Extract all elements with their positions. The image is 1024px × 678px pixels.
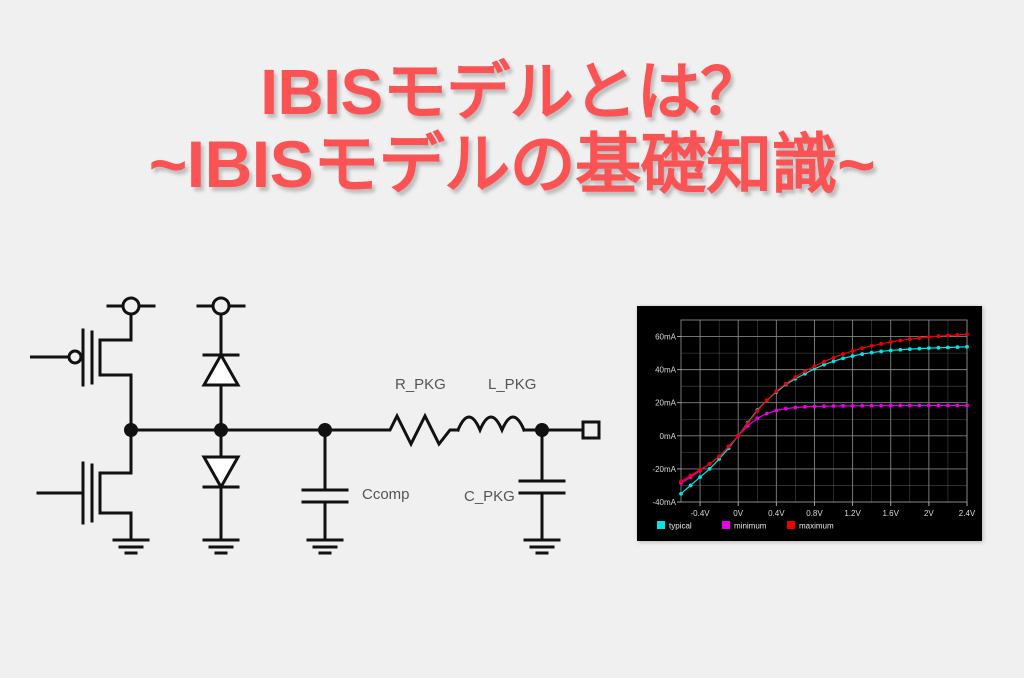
x-tick-label: 2.4V xyxy=(959,509,976,518)
nmos-ground-icon xyxy=(114,540,148,553)
page-title: IBISモデルとは？ ~IBISモデルの基礎知識~ xyxy=(0,60,1024,199)
clamp-ground-icon xyxy=(204,540,238,553)
l-pkg-inductor xyxy=(458,417,542,430)
legend-label-minimum: minimum xyxy=(734,522,767,531)
junction-dot xyxy=(124,423,138,437)
legend-label-typical: typical xyxy=(669,522,692,531)
power-terminal-diode-icon xyxy=(198,298,244,355)
ccomp-capacitor xyxy=(303,430,347,540)
y-tick-label: -20mA xyxy=(652,465,676,474)
y-tick-label: -40mA xyxy=(652,498,676,507)
junction-dot xyxy=(535,423,549,437)
x-tick-label: 0V xyxy=(733,509,743,518)
title-line-1: IBISモデルとは？ xyxy=(0,60,1024,125)
ibis-circuit-diagram: R_PKG L_PKG Ccomp C_PKG xyxy=(30,285,620,565)
ccomp-ground-icon xyxy=(308,540,342,553)
nmos-transistor xyxy=(38,430,131,540)
c-pkg-capacitor xyxy=(520,430,564,540)
x-tick-label: 0.4V xyxy=(768,509,785,518)
r-pkg-resistor xyxy=(382,416,458,444)
label-r-pkg: R_PKG xyxy=(395,376,446,393)
legend-label-maximum: maximum xyxy=(799,522,834,531)
x-tick-label: -0.4V xyxy=(691,509,711,518)
power-clamp-diode xyxy=(204,355,238,430)
pmos-transistor xyxy=(30,330,131,430)
x-tick-label: 1.2V xyxy=(844,509,861,518)
title-line-2: ~IBISモデルの基礎知識~ xyxy=(0,131,1024,198)
y-tick-label: 40mA xyxy=(655,366,677,375)
y-tick-label: 60mA xyxy=(655,333,677,342)
label-ccomp: Ccomp xyxy=(362,486,410,503)
chart-background xyxy=(637,306,982,541)
ground-clamp-diode xyxy=(204,430,238,540)
legend-swatch-maximum xyxy=(787,521,795,529)
label-l-pkg: L_PKG xyxy=(488,376,536,393)
legend-swatch-minimum xyxy=(722,521,730,529)
chart-legend: typicalminimummaximum xyxy=(657,521,834,531)
junction-dot xyxy=(318,423,332,437)
junction-dot xyxy=(214,423,228,437)
x-tick-label: 1.6V xyxy=(882,509,899,518)
x-tick-label: 2V xyxy=(924,509,934,518)
y-tick-label: 20mA xyxy=(655,399,677,408)
output-pad xyxy=(542,422,599,438)
power-terminal-icon xyxy=(108,298,154,340)
x-tick-label: 0.8V xyxy=(806,509,823,518)
slide-canvas: IBISモデルとは？ ~IBISモデルの基礎知識~ xyxy=(0,0,1024,678)
label-c-pkg: C_PKG xyxy=(464,488,515,505)
y-tick-label: 0mA xyxy=(660,432,677,441)
legend-swatch-typical xyxy=(657,521,665,529)
iv-curve-chart: -0.4V0V0.4V0.8V1.2V1.6V2V2.4V 60mA40mA20… xyxy=(637,306,982,541)
cpkg-ground-icon xyxy=(525,540,559,553)
